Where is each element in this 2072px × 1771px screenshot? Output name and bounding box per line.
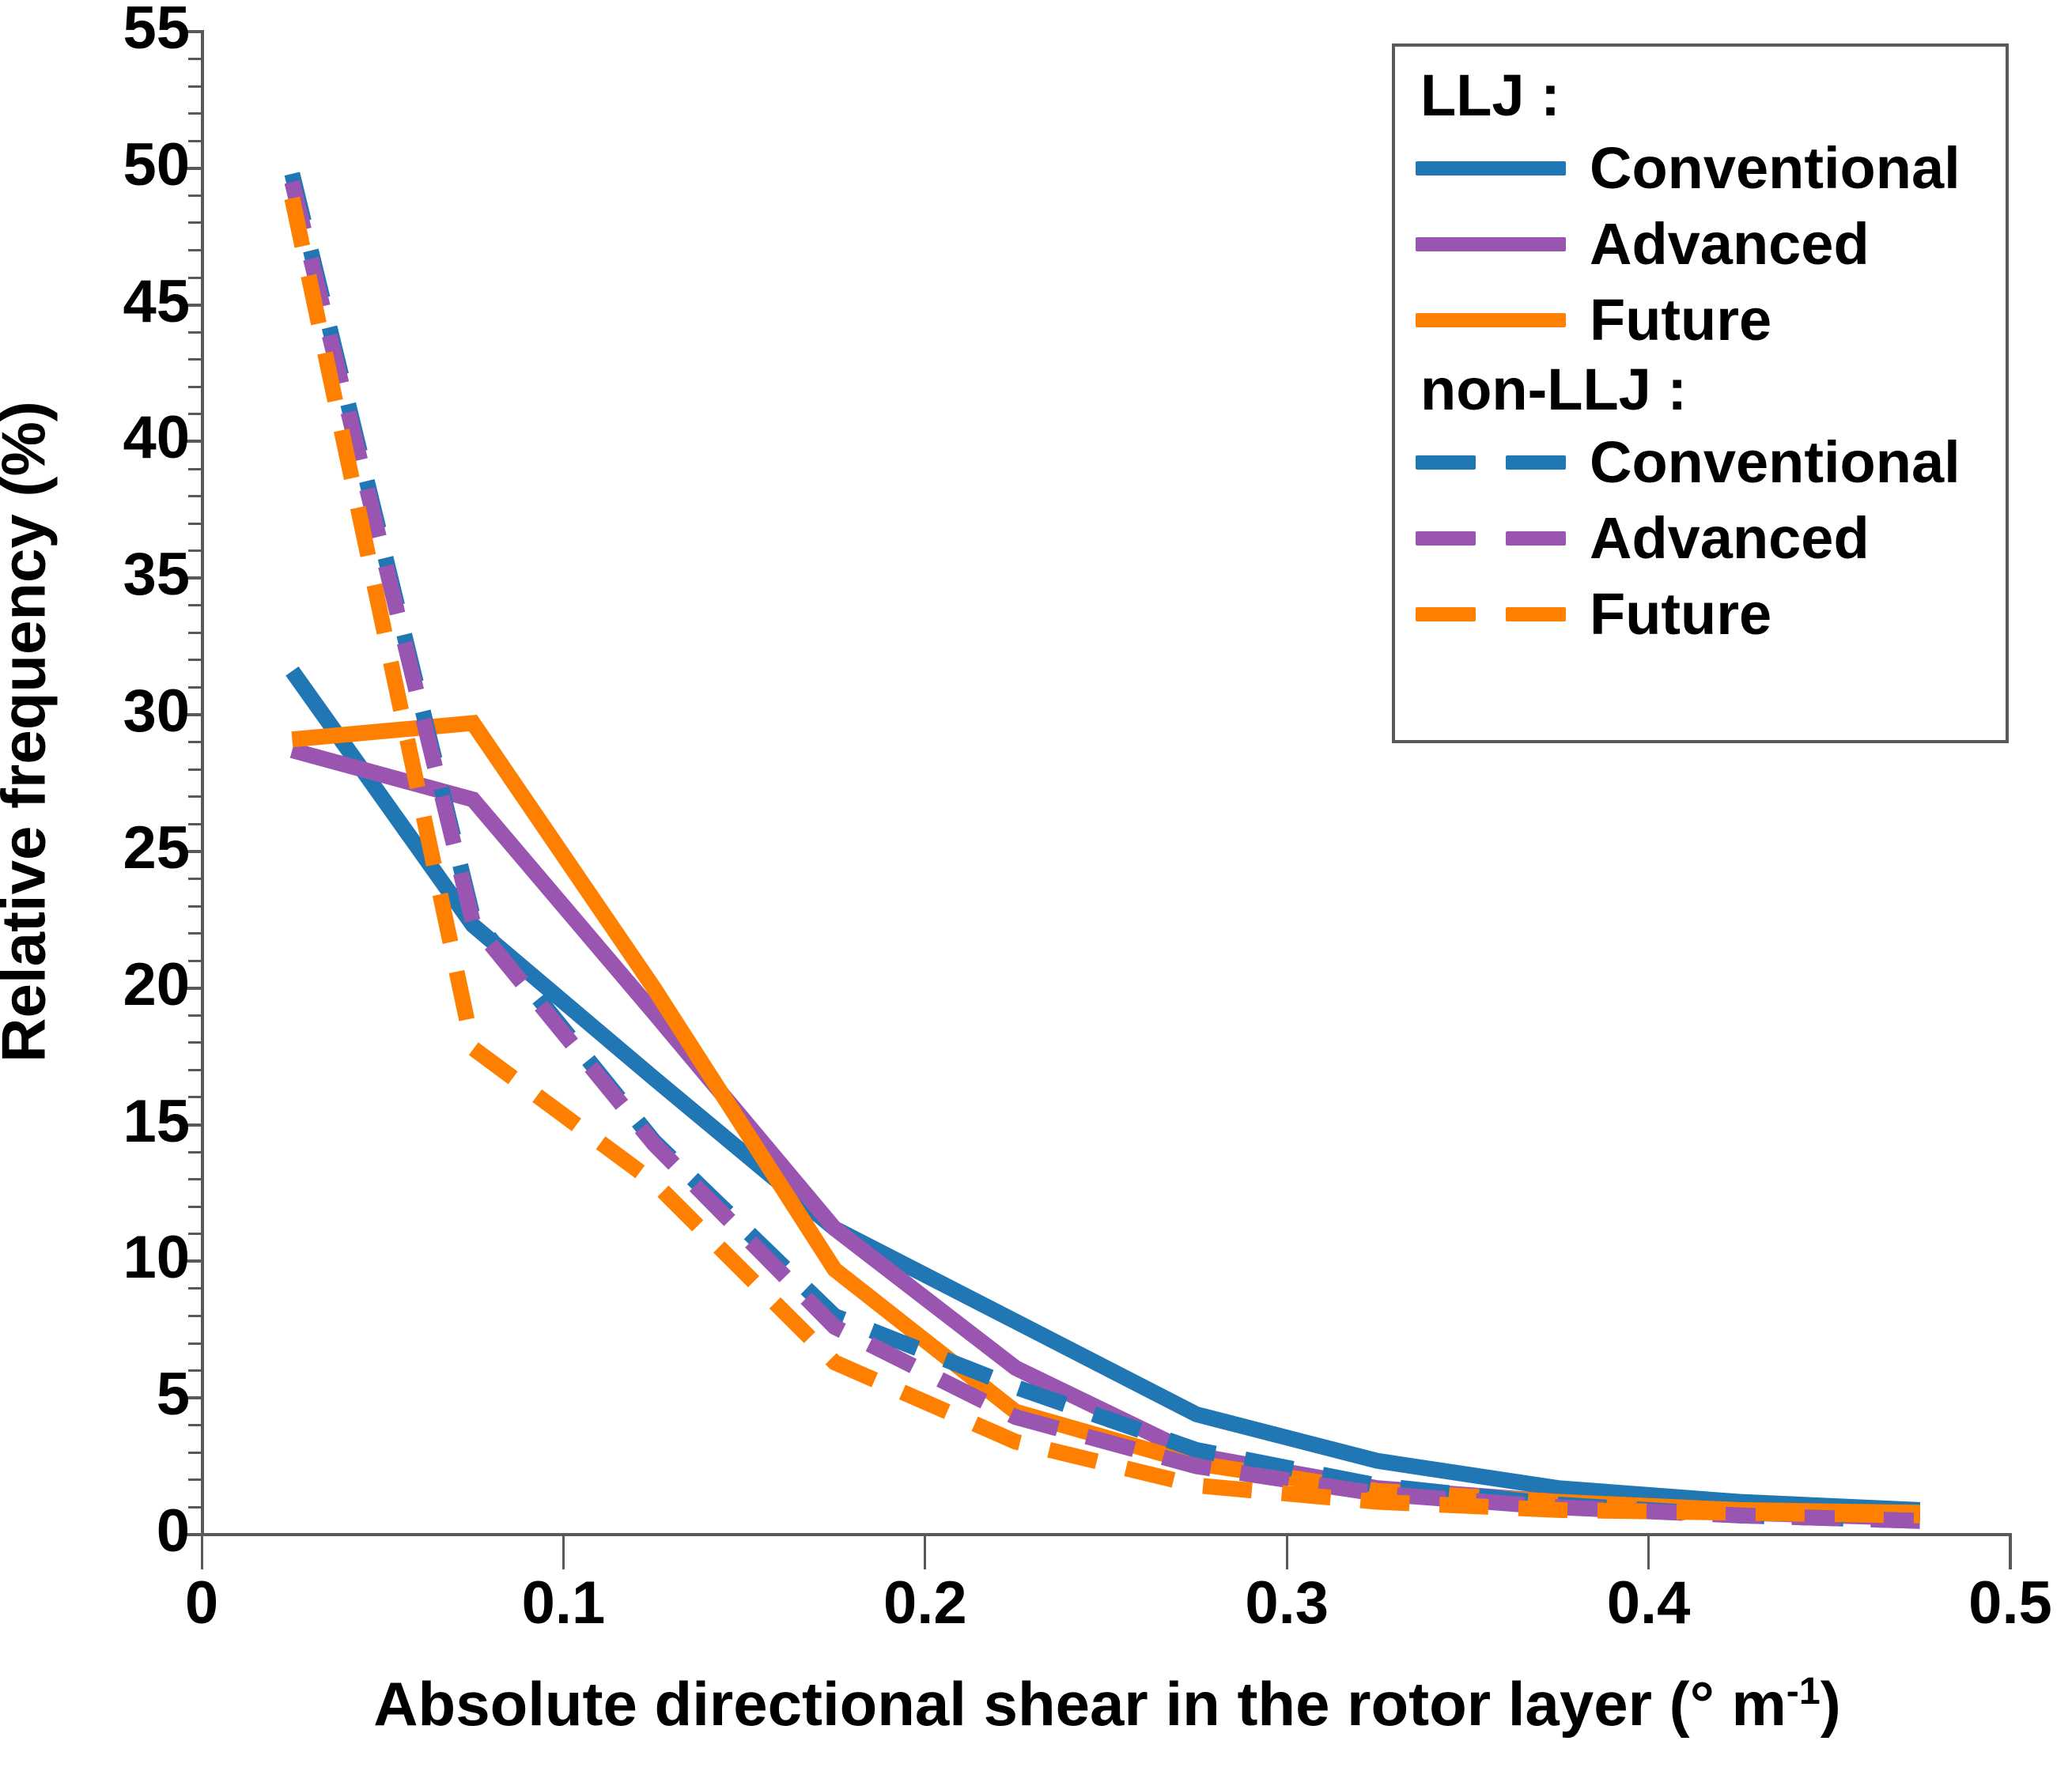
legend-item[interactable]: Future xyxy=(1416,576,1985,652)
legend-group-title: LLJ : xyxy=(1420,64,1985,127)
legend-dash-segment xyxy=(1506,455,1566,470)
legend-item-label: Future xyxy=(1590,291,1771,349)
legend-item-label: Advanced xyxy=(1590,509,1870,568)
legend-item[interactable]: Advanced xyxy=(1416,206,1985,282)
legend-dash-segment xyxy=(1416,531,1476,546)
legend-dash-segment xyxy=(1506,607,1566,621)
legend-line-swatch-icon xyxy=(1416,607,1566,621)
legend-line-swatch-icon xyxy=(1416,237,1566,251)
legend-item[interactable]: Conventional xyxy=(1416,425,1985,500)
chart-figure: 0510152025303540455055 00.10.20.30.40.5 … xyxy=(0,0,2072,1771)
series-line xyxy=(292,723,1919,1513)
legend-dash-segment xyxy=(1416,455,1476,470)
legend-line-swatch-icon xyxy=(1416,531,1566,546)
series-line xyxy=(292,671,1919,1510)
legend-line-swatch-icon xyxy=(1416,313,1566,327)
legend-dash-segment xyxy=(1506,531,1566,546)
series-line xyxy=(292,750,1919,1518)
legend-item-label: Future xyxy=(1590,585,1771,644)
legend-group-title: non-LLJ : xyxy=(1420,358,1985,421)
legend-dash-segment xyxy=(1416,607,1476,621)
legend-item[interactable]: Conventional xyxy=(1416,130,1985,206)
legend-item-label: Advanced xyxy=(1590,215,1870,274)
legend-line-swatch-icon xyxy=(1416,161,1566,176)
legend: LLJ :ConventionalAdvancedFuturenon-LLJ :… xyxy=(1392,43,2009,743)
legend-line-swatch-icon xyxy=(1416,455,1566,470)
legend-item[interactable]: Future xyxy=(1416,282,1985,358)
legend-item-label: Conventional xyxy=(1590,433,1960,492)
legend-item-label: Conventional xyxy=(1590,139,1960,198)
legend-item[interactable]: Advanced xyxy=(1416,500,1985,576)
